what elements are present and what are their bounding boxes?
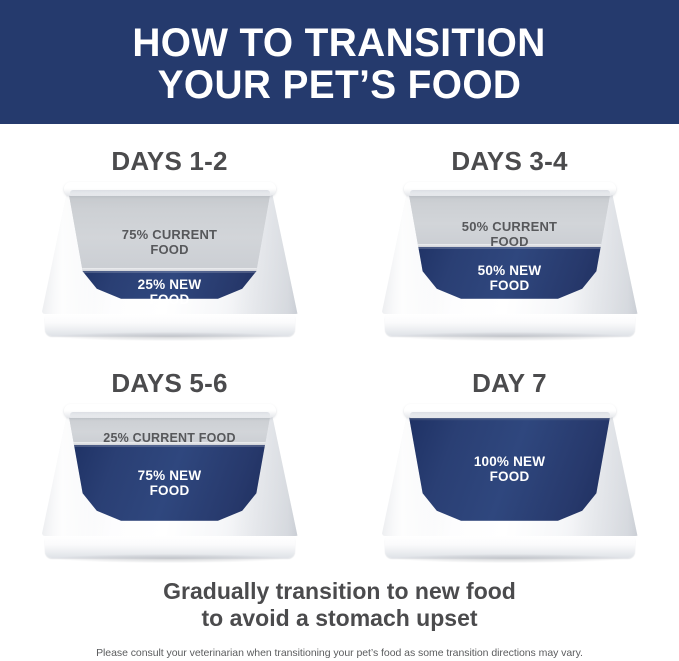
transition-step-panel: DAY 7 100% NEW FOOD [340, 346, 679, 570]
bowl-rim-inner-edge [70, 412, 270, 418]
bowl-cavity [409, 192, 611, 302]
bowl-rim-inner-edge [410, 190, 610, 196]
bowl-shadow [56, 554, 284, 563]
pet-food-bowl: 75% CURRENT FOOD 25% NEW FOOD [42, 180, 298, 342]
header-banner: HOW TO TRANSITION YOUR PET’S FOOD [0, 0, 679, 124]
bowl-rim-inner-edge [70, 190, 270, 196]
bowl-shadow [56, 332, 284, 341]
pet-food-bowl: 50% CURRENT FOOD 50% NEW FOOD [382, 180, 638, 342]
bowl-cavity [69, 414, 271, 524]
bowl-cavity [69, 192, 271, 302]
transition-step-panel: DAYS 3-4 50% CURRENT FOOD 50% NEW FOOD [340, 124, 679, 348]
pet-food-bowl: 25% CURRENT FOOD 75% NEW FOOD [42, 402, 298, 564]
new-food-fill [409, 414, 611, 524]
transition-step-panel: DAYS 1-2 75% CURRENT FOOD 25% NEW FOOD [0, 124, 339, 348]
bowl-rim-inner-edge [410, 412, 610, 418]
step-title: DAYS 1-2 [0, 146, 339, 177]
pet-food-bowl: 100% NEW FOOD [382, 402, 638, 564]
header-title-line-1: HOW TO TRANSITION [133, 22, 546, 64]
header-title-line-2: YOUR PET’S FOOD [158, 64, 522, 106]
step-title: DAYS 5-6 [0, 368, 339, 399]
bowl-cavity [409, 414, 611, 524]
current-food-fill [69, 414, 271, 445]
footer-headline-line-1: Gradually transition to new food [0, 572, 679, 605]
transition-steps-grid: DAYS 1-2 75% CURRENT FOOD 25% NEW FOOD D… [0, 124, 679, 572]
disclaimer-text: Please consult your veterinarian when tr… [0, 647, 679, 659]
step-title: DAY 7 [340, 368, 679, 399]
current-food-fill [409, 192, 611, 247]
footer-headline-line-2: to avoid a stomach upset [0, 605, 679, 632]
current-food-fill [69, 192, 271, 271]
transition-step-panel: DAYS 5-6 25% CURRENT FOOD 75% NEW FOOD [0, 346, 339, 570]
bowl-shadow [396, 332, 624, 341]
step-title: DAYS 3-4 [340, 146, 679, 177]
bowl-shadow [396, 554, 624, 563]
footer: Gradually transition to new food to avoi… [0, 572, 679, 661]
